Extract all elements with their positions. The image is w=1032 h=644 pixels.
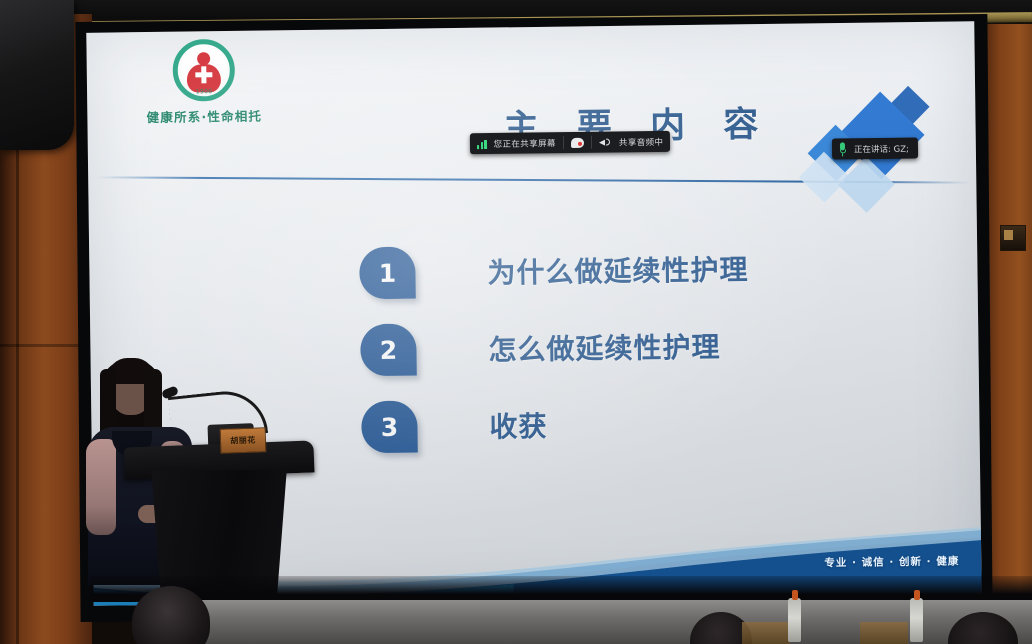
sharing-status-label: 您正在共享屏幕 bbox=[493, 137, 555, 150]
toolbar-divider bbox=[563, 136, 564, 149]
agenda-list: 1 为什么做延续性护理 2 怎么做延续性护理 3 收获 bbox=[359, 234, 922, 472]
water-bottle bbox=[788, 598, 801, 642]
conference-hall-scene: 1906 健康所系·性命相托 主 要 内 容 1 为什么做延续性护理 2 怎么做… bbox=[0, 0, 1032, 644]
podium-nameplate: 胡丽花 bbox=[220, 427, 267, 454]
agenda-item: 2 怎么做延续性护理 bbox=[360, 311, 921, 382]
agenda-item-label: 为什么做延续性护理 bbox=[487, 248, 749, 291]
agenda-item-label: 怎么做延续性护理 bbox=[488, 326, 721, 369]
slide-footer-slogan: 专业 · 诚信 · 创新 · 健康 bbox=[824, 553, 959, 570]
podium-nameplate-label: 胡丽花 bbox=[230, 435, 256, 447]
foreground-shadow bbox=[90, 576, 1032, 602]
record-camera-icon[interactable] bbox=[571, 137, 584, 147]
agenda-item: 1 为什么做延续性护理 bbox=[359, 234, 920, 305]
emblem-year: 1906 bbox=[196, 88, 213, 95]
signal-bars-icon bbox=[477, 139, 487, 149]
agenda-number-badge: 2 bbox=[360, 324, 417, 377]
wall-fixture bbox=[1000, 225, 1026, 251]
hospital-emblem-icon: 1906 bbox=[172, 39, 235, 102]
screen-share-toolbar[interactable]: 您正在共享屏幕 共享音频中 bbox=[470, 131, 671, 154]
logo-tagline: 健康所系·性命相托 bbox=[109, 105, 299, 126]
water-bottle bbox=[910, 598, 923, 642]
active-speaker-indicator[interactable]: 正在讲话: GZ; bbox=[832, 137, 918, 159]
microphone-icon bbox=[839, 142, 846, 155]
agenda-number-badge: 3 bbox=[361, 401, 418, 454]
speaker-icon[interactable] bbox=[599, 136, 612, 147]
audience-chair bbox=[860, 622, 908, 644]
audience-chair bbox=[742, 622, 790, 644]
toolbar-divider bbox=[591, 136, 592, 149]
agenda-item-label: 收获 bbox=[489, 405, 548, 446]
agenda-item: 3 收获 bbox=[361, 388, 922, 459]
ceiling-speaker bbox=[0, 0, 74, 150]
hospital-logo-block: 1906 健康所系·性命相托 bbox=[108, 38, 299, 126]
emblem-cross-bar bbox=[195, 72, 212, 77]
agenda-number-badge: 1 bbox=[359, 247, 416, 300]
active-speaker-label: 正在讲话: GZ; bbox=[854, 142, 909, 155]
audio-status-label: 共享音频中 bbox=[619, 135, 664, 148]
presenter-sleeve-left bbox=[86, 439, 116, 535]
